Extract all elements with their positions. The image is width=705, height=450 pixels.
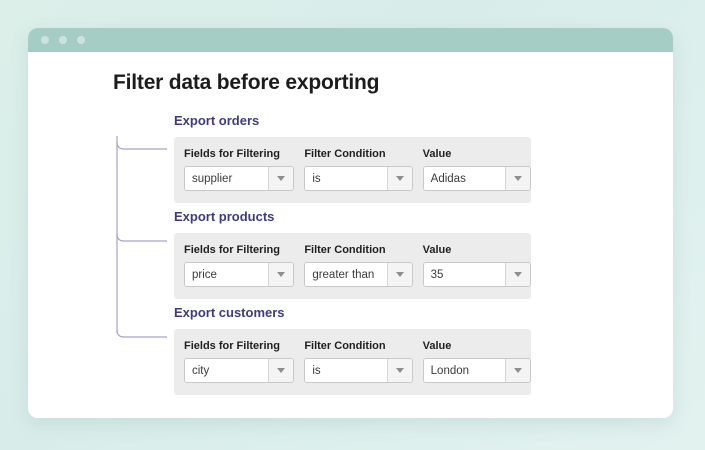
window-maximize-dot[interactable] xyxy=(77,36,85,44)
field-group-value: Value 35 xyxy=(413,244,531,287)
select-value: supplier xyxy=(185,167,268,190)
select-fields-for-filtering[interactable]: supplier xyxy=(184,166,294,191)
section-title: Export products xyxy=(174,209,531,224)
select-value: greater than xyxy=(305,263,386,286)
select-value-field[interactable]: Adidas xyxy=(423,166,531,191)
filter-panel: Fields for Filtering price Filter Condit… xyxy=(174,233,531,299)
field-label-condition: Filter Condition xyxy=(304,244,412,256)
field-group-fields: Fields for Filtering city xyxy=(174,340,294,383)
window-content: Filter data before exporting Export orde… xyxy=(28,52,673,418)
field-label-value: Value xyxy=(423,340,531,352)
field-label-value: Value xyxy=(423,148,531,160)
window-minimize-dot[interactable] xyxy=(59,36,67,44)
browser-window: Filter data before exporting Export orde… xyxy=(28,28,673,418)
chevron-down-icon[interactable] xyxy=(505,263,530,286)
select-fields-for-filtering[interactable]: city xyxy=(184,358,294,383)
chevron-down-icon[interactable] xyxy=(268,167,293,190)
window-titlebar xyxy=(28,28,673,52)
chevron-down-icon[interactable] xyxy=(505,359,530,382)
section-export-products: Export products Fields for Filtering pri… xyxy=(174,209,531,299)
field-label-fields: Fields for Filtering xyxy=(184,340,294,352)
field-group-condition: Filter Condition is xyxy=(294,340,412,383)
field-label-condition: Filter Condition xyxy=(304,148,412,160)
window-close-dot[interactable] xyxy=(41,36,49,44)
field-group-condition: Filter Condition is xyxy=(294,148,412,191)
field-label-condition: Filter Condition xyxy=(304,340,412,352)
chevron-down-icon[interactable] xyxy=(387,167,412,190)
field-label-value: Value xyxy=(423,244,531,256)
section-export-orders: Export orders Fields for Filtering suppl… xyxy=(174,113,531,203)
field-label-fields: Fields for Filtering xyxy=(184,148,294,160)
field-group-condition: Filter Condition greater than xyxy=(294,244,412,287)
chevron-down-icon[interactable] xyxy=(268,359,293,382)
field-group-value: Value Adidas xyxy=(413,148,531,191)
chevron-down-icon[interactable] xyxy=(268,263,293,286)
field-group-value: Value London xyxy=(413,340,531,383)
select-value: Adidas xyxy=(424,167,505,190)
chevron-down-icon[interactable] xyxy=(505,167,530,190)
select-value-field[interactable]: London xyxy=(423,358,531,383)
select-filter-condition[interactable]: greater than xyxy=(304,262,412,287)
chevron-down-icon[interactable] xyxy=(387,263,412,286)
select-value: price xyxy=(185,263,268,286)
section-export-customers: Export customers Fields for Filtering ci… xyxy=(174,305,531,395)
filter-panel: Fields for Filtering supplier Filter Con… xyxy=(174,137,531,203)
select-value: city xyxy=(185,359,268,382)
filter-panel: Fields for Filtering city Filter Conditi… xyxy=(174,329,531,395)
section-title: Export orders xyxy=(174,113,531,128)
select-value: is xyxy=(305,359,386,382)
field-group-fields: Fields for Filtering supplier xyxy=(174,148,294,191)
select-value-field[interactable]: 35 xyxy=(423,262,531,287)
chevron-down-icon[interactable] xyxy=(387,359,412,382)
select-fields-for-filtering[interactable]: price xyxy=(184,262,294,287)
select-value: is xyxy=(305,167,386,190)
field-label-fields: Fields for Filtering xyxy=(184,244,294,256)
select-filter-condition[interactable]: is xyxy=(304,166,412,191)
page-title: Filter data before exporting xyxy=(113,71,379,95)
select-value: 35 xyxy=(424,263,505,286)
section-title: Export customers xyxy=(174,305,531,320)
field-group-fields: Fields for Filtering price xyxy=(174,244,294,287)
page-root: Filter data before exporting Export orde… xyxy=(0,0,705,450)
select-filter-condition[interactable]: is xyxy=(304,358,412,383)
select-value: London xyxy=(424,359,505,382)
